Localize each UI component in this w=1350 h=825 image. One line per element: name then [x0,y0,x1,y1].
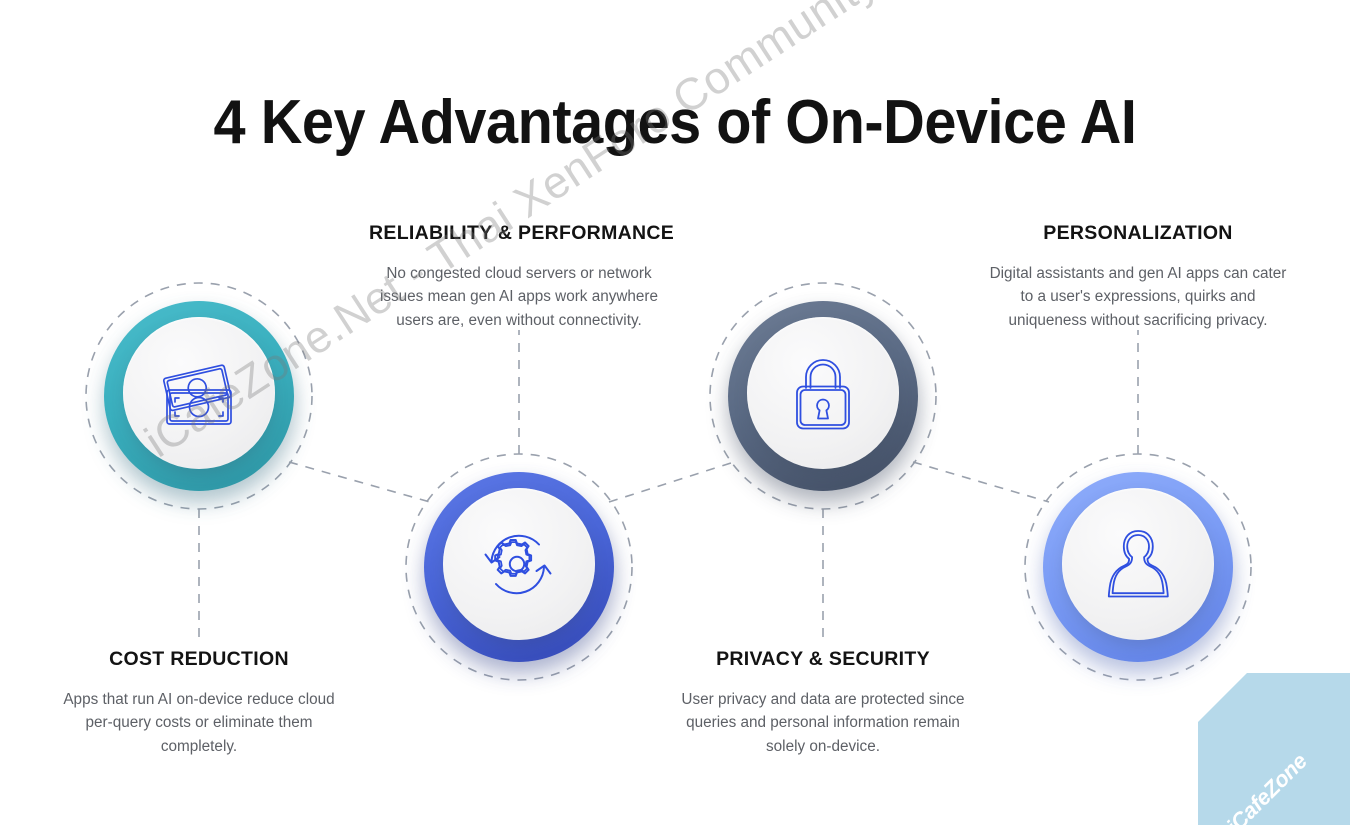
node-personalization[interactable] [1043,472,1233,662]
block-privacy-security: PRIVACY & SECURITY User privacy and data… [673,648,973,758]
body-cost-reduction: Apps that run AI on-device reduce cloud … [49,688,349,758]
infographic-canvas: 4 Key Advantages of On-Device AI [0,0,1350,825]
block-cost-reduction: COST REDUCTION Apps that run AI on-devic… [49,648,349,758]
padlock-icon [776,346,870,440]
heading-personalization: PERSONALIZATION [988,222,1288,245]
person-icon [1091,517,1185,611]
page-title: 4 Key Advantages of On-Device AI [47,90,1303,156]
corner-brand-text: iCafeZone [1205,732,1329,825]
node-disc [123,317,275,469]
node-disc [1062,488,1214,640]
node-privacy-security[interactable] [728,301,918,491]
body-reliability-performance: No congested cloud servers or network is… [369,262,669,332]
heading-privacy-security: PRIVACY & SECURITY [673,648,973,671]
gear-refresh-icon [469,514,569,614]
body-privacy-security: User privacy and data are protected sinc… [673,688,973,758]
heading-reliability-performance: RELIABILITY & PERFORMANCE [369,222,669,245]
node-reliability-performance[interactable] [424,472,614,662]
block-personalization: PERSONALIZATION Digital assistants and g… [988,222,1288,332]
body-personalization: Digital assistants and gen AI apps can c… [988,262,1288,332]
heading-cost-reduction: COST REDUCTION [49,648,349,671]
banknotes-icon [151,345,247,441]
node-cost-reduction[interactable] [104,301,294,491]
block-reliability-performance: RELIABILITY & PERFORMANCE No congested c… [369,222,669,332]
node-disc [443,488,595,640]
node-disc [747,317,899,469]
corner-badge: iCafeZone [1198,673,1350,825]
corner-wedge [1198,673,1350,825]
